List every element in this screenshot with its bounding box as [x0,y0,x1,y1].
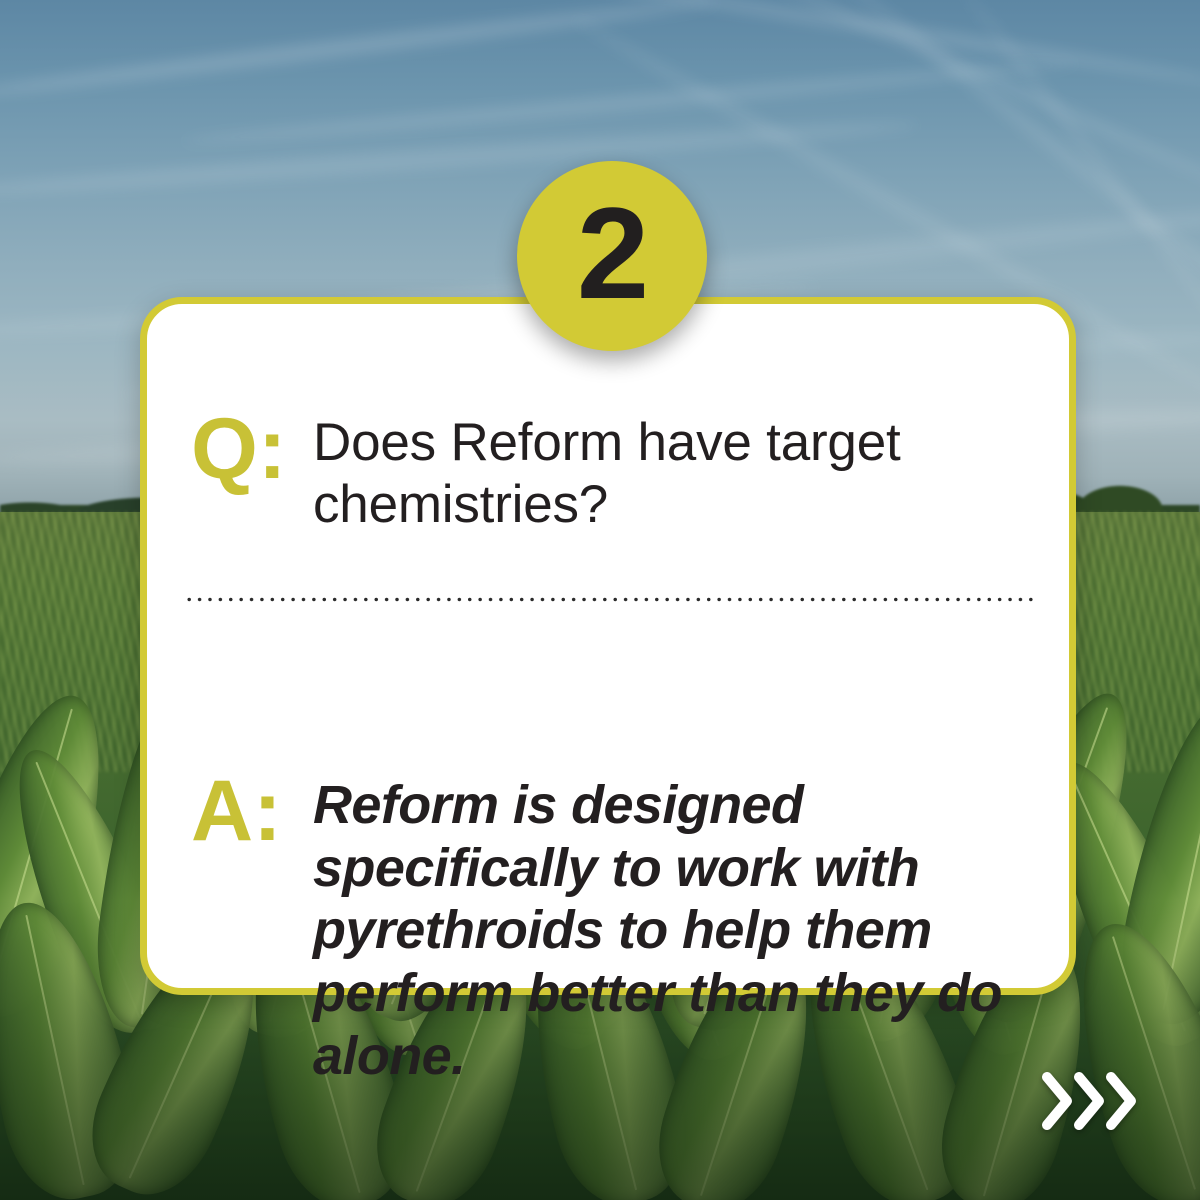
answer-row: A: Reform is designed specifically to wo… [191,536,1025,1087]
question-marker: Q: [191,406,313,492]
triple-chevron-right-icon[interactable] [1042,1072,1136,1130]
cloud-streak [0,116,919,202]
step-number-label: 2 [577,188,647,318]
qa-divider [184,597,1036,602]
chevron-right-icon [1042,1072,1072,1130]
chevron-right-icon [1074,1072,1104,1130]
question-text: Does Reform have target chemistries? [313,304,1025,536]
chevron-right-icon [1106,1072,1136,1130]
cloud-streak [0,0,718,102]
answer-marker: A: [191,768,313,854]
step-number-badge: 2 [517,161,707,351]
cloud-streak [181,57,1079,148]
qa-card: Q: Does Reform have target chemistries? … [140,297,1076,995]
answer-text: Reform is designed specifically to work … [313,536,1025,1087]
cloud-streak [424,0,1200,90]
